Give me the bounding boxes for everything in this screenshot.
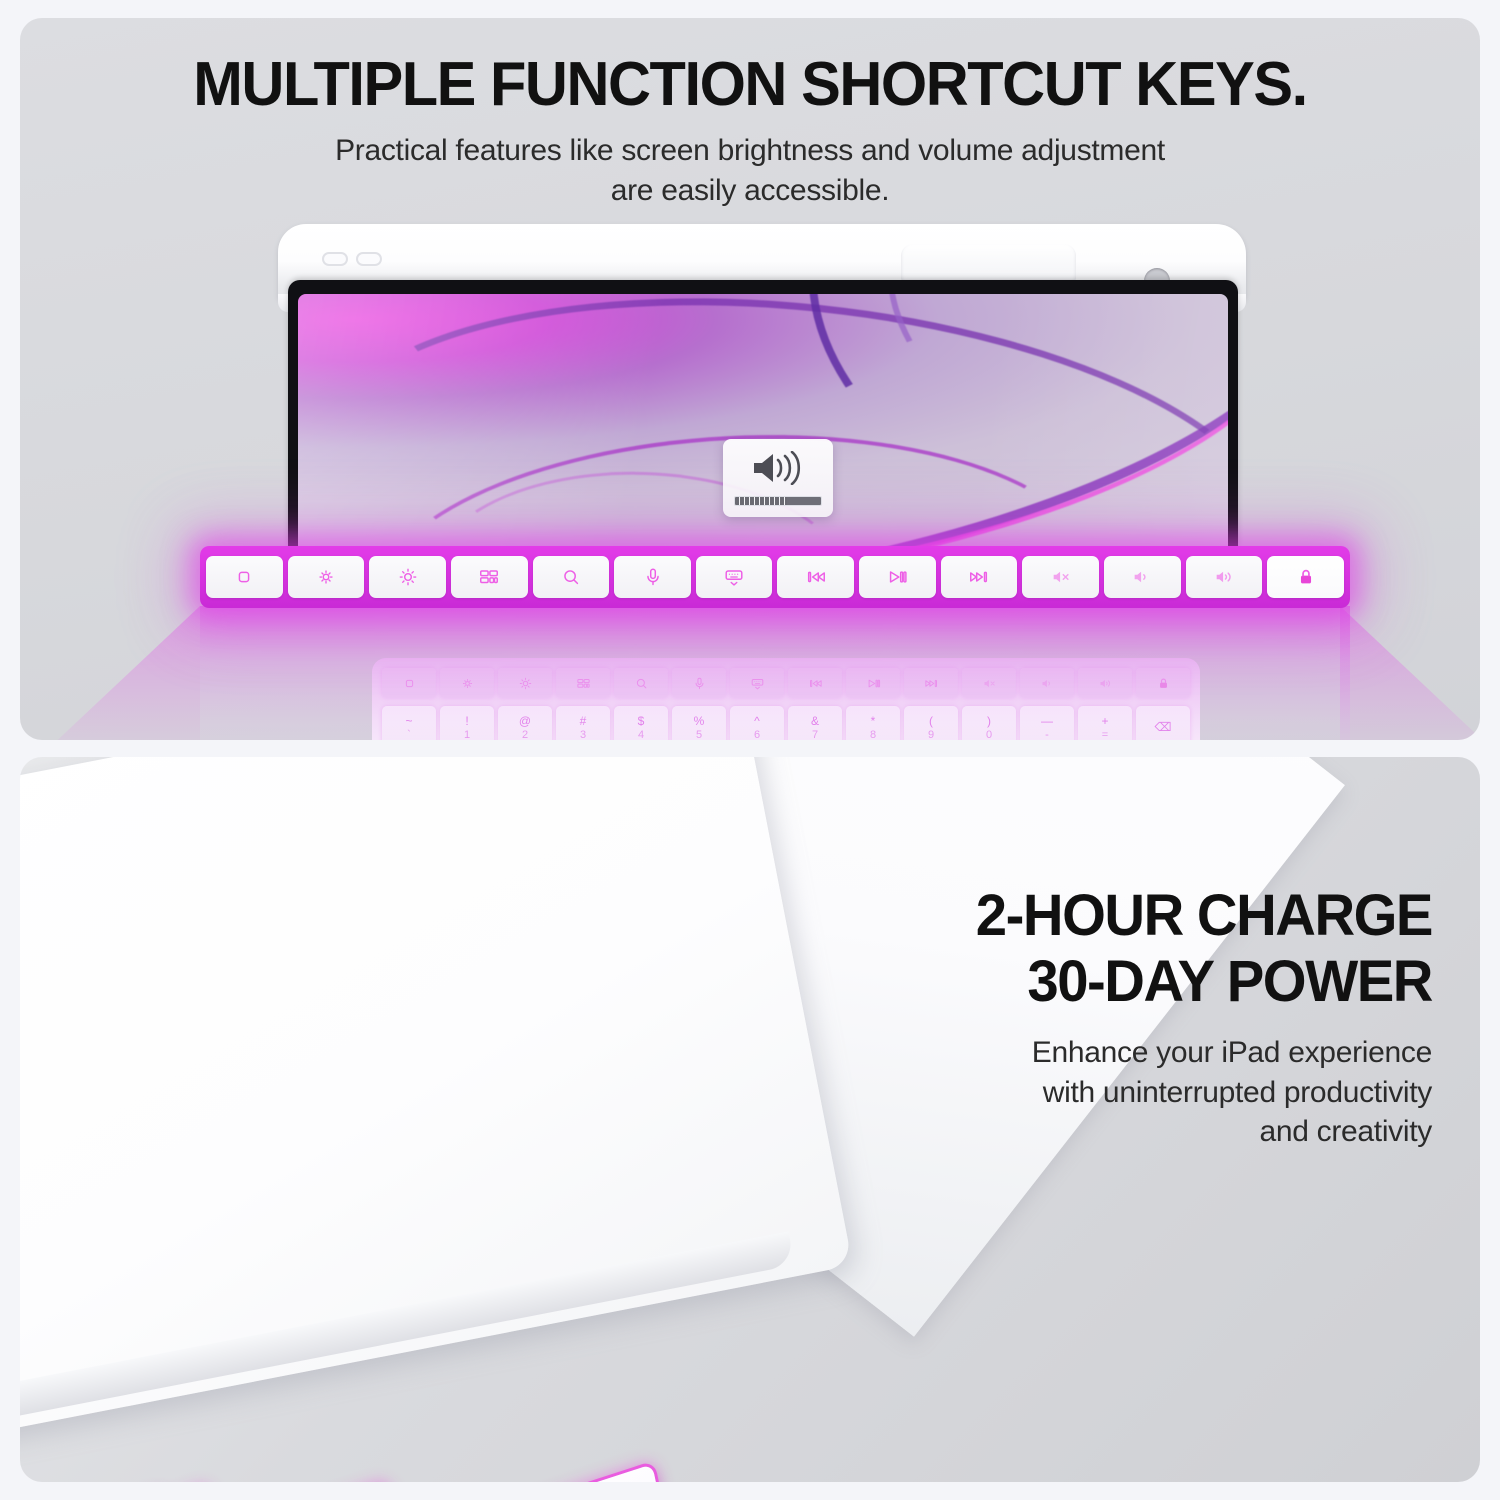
function-key-volume-up[interactable] — [1186, 556, 1263, 598]
function-key-lock[interactable] — [1267, 556, 1344, 598]
apple-pencil-holder — [901, 244, 1076, 282]
top-subline-2: are easily accessible. — [20, 171, 1480, 211]
keyboard-body — [20, 757, 853, 1437]
top-subline-1: Practical features like screen brightnes… — [20, 131, 1480, 171]
function-key-previous-track[interactable] — [777, 556, 854, 598]
function-key-mute[interactable] — [1022, 556, 1099, 598]
function-key-keyboard-hide[interactable] — [696, 556, 773, 598]
backlight-beam — [200, 606, 1350, 740]
top-copy-block: MULTIPLE FUNCTION SHORTCUT KEYS. Practic… — [20, 52, 1480, 211]
speaker-cutout-icon — [322, 252, 348, 266]
function-key-microphone[interactable] — [614, 556, 691, 598]
volume-level-bar — [734, 496, 822, 506]
function-key-brightness-up[interactable] — [369, 556, 446, 598]
volume-osd — [723, 439, 833, 517]
backlight-beam-right — [1340, 606, 1480, 740]
function-key-next-track[interactable] — [941, 556, 1018, 598]
bottom-subline-2: with uninterrupted productivity — [832, 1073, 1432, 1113]
key-shift[interactable]: Shift — [414, 1464, 671, 1482]
function-key-search[interactable] — [533, 556, 610, 598]
shortcut-keys-panel: MULTIPLE FUNCTION SHORTCUT KEYS. Practic… — [20, 18, 1480, 740]
function-key-home-square[interactable] — [206, 556, 283, 598]
battery-life-panel: command / Shift ◀ ▲ ▼ ▶ — [20, 757, 1480, 1482]
backlight-beam-left — [30, 606, 200, 740]
bottom-subline-1: Enhance your iPad experience — [832, 1033, 1432, 1073]
function-key-row[interactable] — [200, 546, 1350, 608]
bottom-copy-block: 2-HOUR CHARGE 30-DAY POWER Enhance your … — [832, 883, 1432, 1152]
function-key-volume-down[interactable] — [1104, 556, 1181, 598]
function-key-brightness-down[interactable] — [288, 556, 365, 598]
function-key-app-library-grid[interactable] — [451, 556, 528, 598]
bottom-headline-line-1: 2-HOUR CHARGE — [850, 883, 1432, 949]
bottom-headline-line-2: 30-DAY POWER — [850, 949, 1432, 1015]
bottom-subline-3: and creativity — [832, 1112, 1432, 1152]
function-key-play-pause[interactable] — [859, 556, 936, 598]
page-title: MULTIPLE FUNCTION SHORTCUT KEYS. — [49, 52, 1451, 117]
speaker-waves-icon — [750, 451, 806, 490]
speaker-cutout-icon — [356, 252, 382, 266]
